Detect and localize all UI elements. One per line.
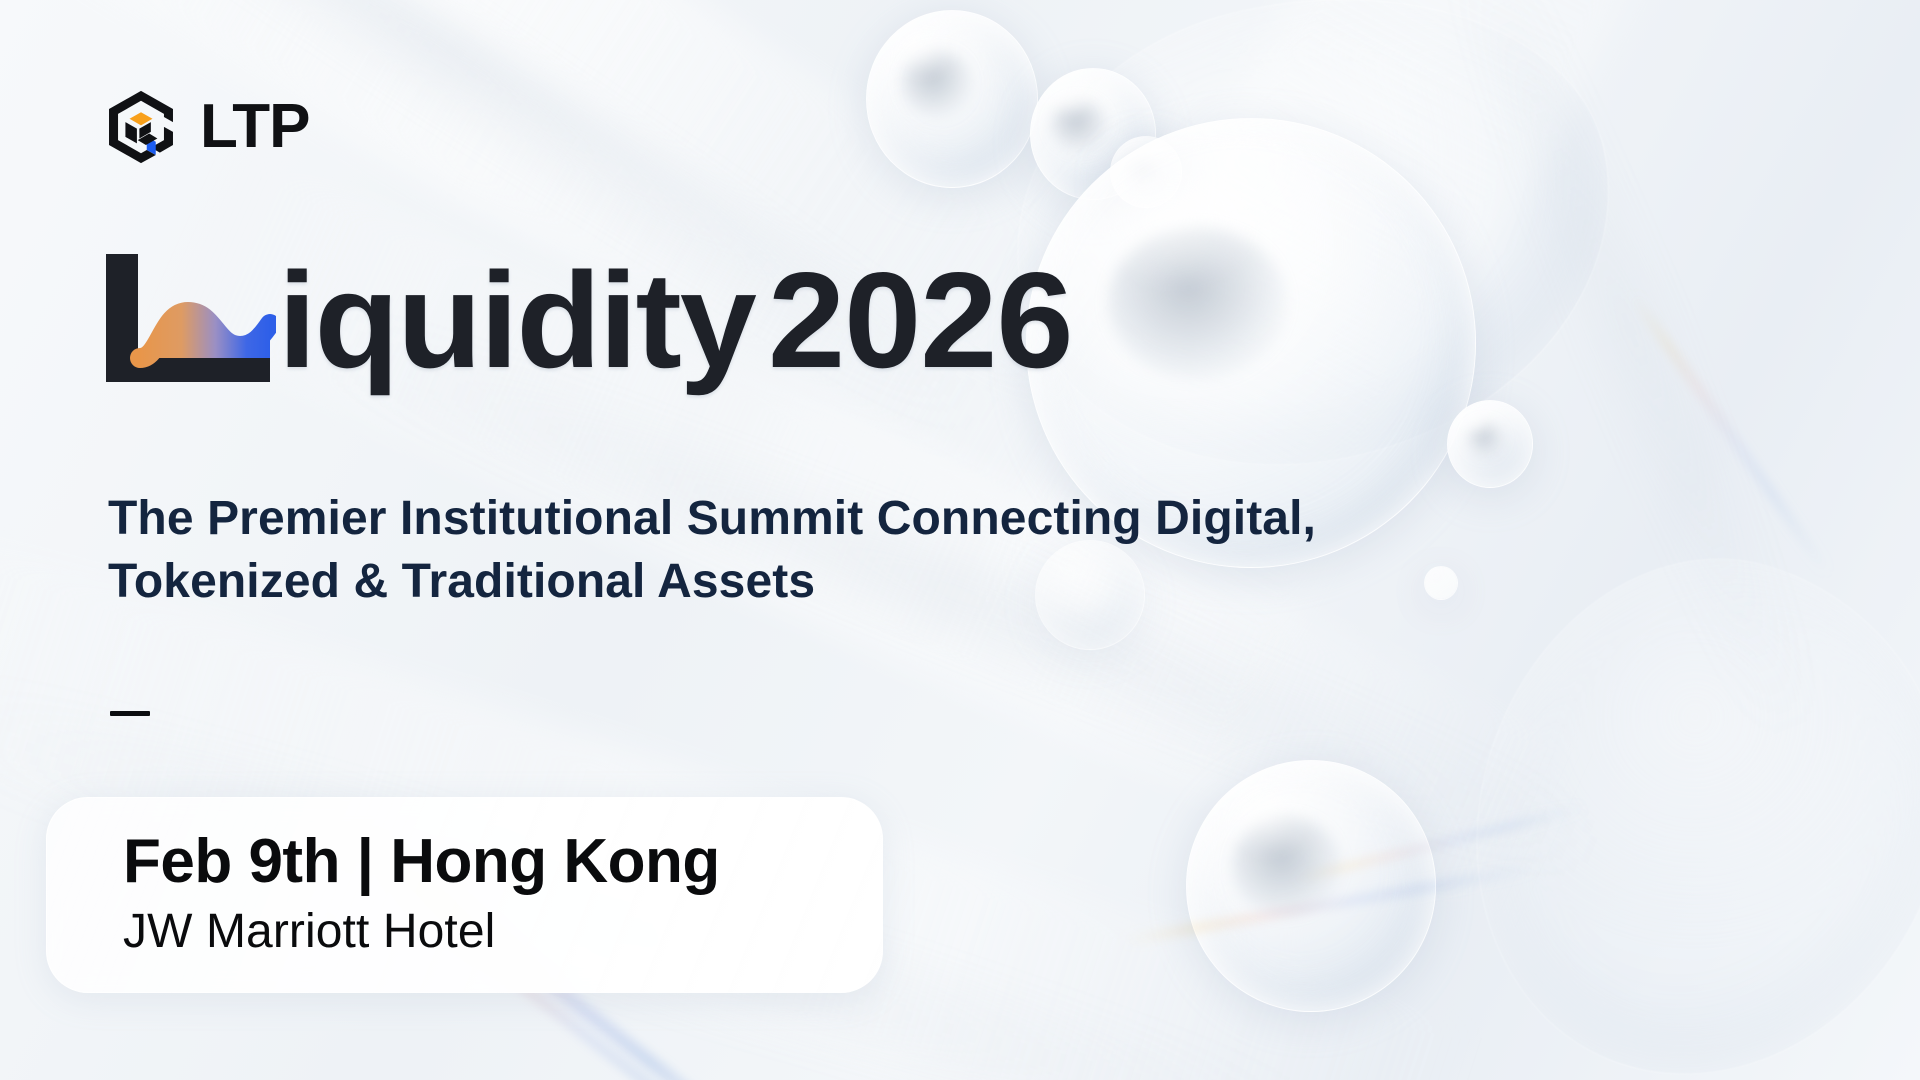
venue-date-city: Feb 9th | Hong Kong [123,830,882,893]
liquidity-wave-l-icon [100,254,276,382]
ltp-wordmark: LTP [200,96,310,158]
event-banner: LTP [0,0,1920,1080]
ltp-hex-cube-logo-icon [100,86,182,168]
ltp-logo-lockup[interactable]: LTP [100,86,310,168]
headline-year: 2026 [768,252,1073,388]
venue-info-card: Feb 9th | Hong Kong JW Marriott Hotel [46,797,883,993]
venue-hotel: JW Marriott Hotel [123,903,882,961]
subtitle: The Premier Institutional Summit Connect… [108,487,1468,614]
headline-word: iquidity [278,252,755,388]
em-dash-divider [110,711,150,716]
page-title: iquidity 2026 [100,252,1066,382]
